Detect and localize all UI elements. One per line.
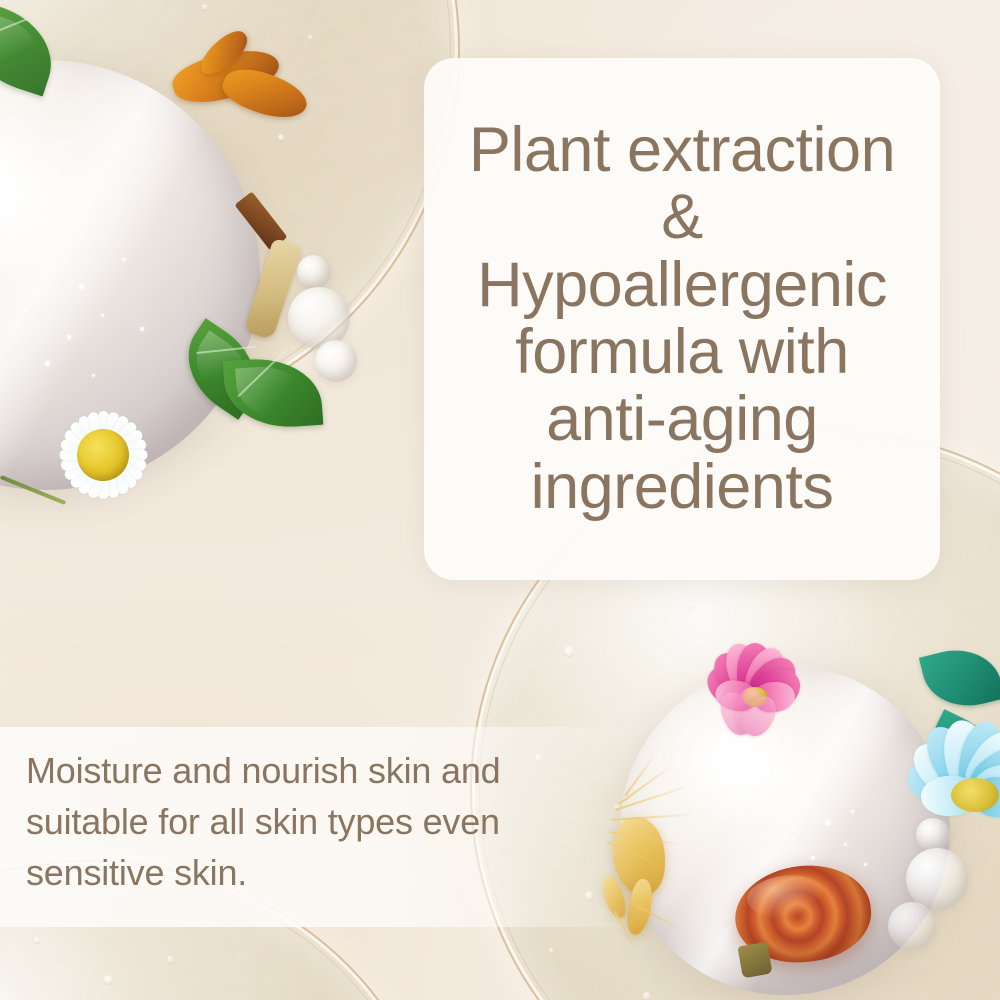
glass-bubble [906,848,968,910]
reishi-mushroom-stalk [740,944,774,978]
page-title: Plant extraction & Hypoallergenic formul… [469,117,895,521]
glass-bubble [315,340,357,382]
headline-card: Plant extraction & Hypoallergenic formul… [424,58,940,580]
mushroom-stalk [737,942,772,979]
daisy-flower-icon [28,380,178,530]
pink-petal-icon [712,700,782,766]
daisy-center [77,429,129,481]
banner-canvas: Plant extraction & Hypoallergenic formul… [0,0,1000,1000]
flower-center [951,778,999,812]
blue-peony-flower-icon [890,720,1000,870]
leaf-vein [0,13,40,40]
subtext: Moisture and nourish skin and suitable f… [26,745,611,898]
glass-bubble [888,902,936,950]
glass-bubble [916,818,950,852]
glass-bubble [297,255,331,289]
